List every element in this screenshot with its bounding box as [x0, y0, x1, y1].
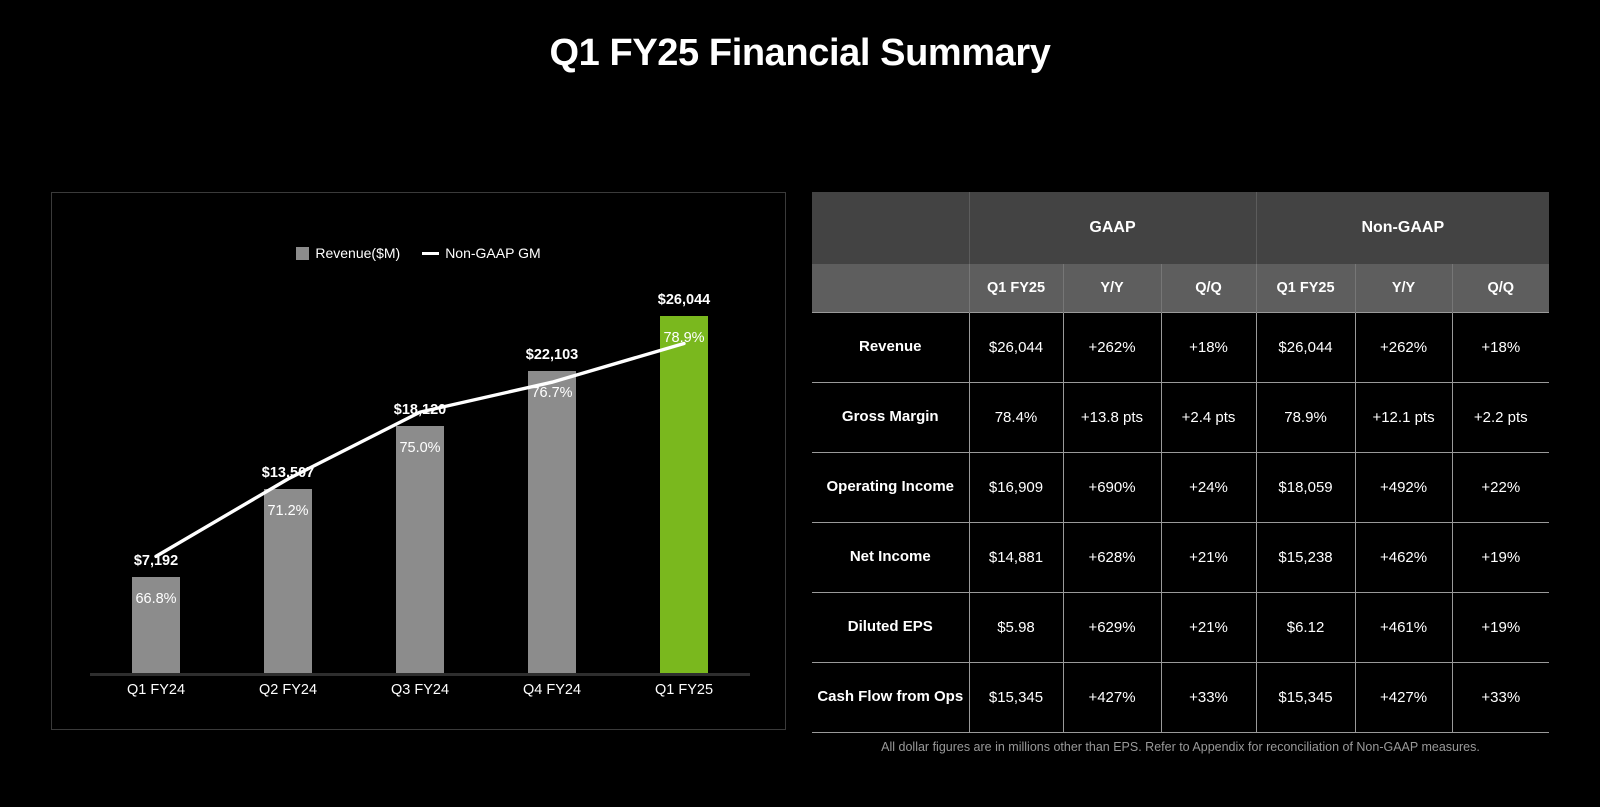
table-cell: $16,909: [969, 452, 1063, 522]
chart-plot-area: $7,19266.8%$13,50771.2%$18,12075.0%$22,1…: [90, 289, 750, 676]
table-corner-cell: [812, 192, 969, 264]
legend-item-revenue: Revenue($M): [296, 245, 400, 261]
table-cell: +19%: [1452, 522, 1549, 592]
table-cell: +18%: [1452, 312, 1549, 382]
table-cell: +12.1 pts: [1355, 382, 1452, 452]
table-subheader-q-q: Q/Q: [1161, 264, 1256, 312]
chart-panel: Revenue($M) Non-GAAP GM $7,19266.8%$13,5…: [51, 192, 786, 730]
legend-square-icon: [296, 247, 309, 260]
table-sub-header-row: Q1 FY25Y/YQ/QQ1 FY25Y/YQ/Q: [812, 264, 1549, 312]
table-row: Gross Margin78.4%+13.8 pts+2.4 pts78.9%+…: [812, 382, 1549, 452]
chart-legend: Revenue($M) Non-GAAP GM: [52, 245, 785, 261]
table-cell: +492%: [1355, 452, 1452, 522]
table-cell: 78.4%: [969, 382, 1063, 452]
table-cell: $26,044: [1256, 312, 1355, 382]
table-cell: +462%: [1355, 522, 1452, 592]
x-axis-labels: Q1 FY24Q2 FY24Q3 FY24Q4 FY24Q1 FY25: [90, 682, 750, 704]
table-cell: +21%: [1161, 592, 1256, 662]
bar-value-label: $13,507: [262, 465, 314, 481]
bar-slot: $18,12075.0%: [354, 289, 486, 676]
bar-slot: $7,19266.8%: [90, 289, 222, 676]
bar-value-label: $22,103: [526, 347, 578, 363]
table-cell: +690%: [1063, 452, 1161, 522]
bar-slot: $22,10376.7%: [486, 289, 618, 676]
bar-value-label: $26,044: [658, 292, 710, 308]
gross-margin-label: 78.9%: [663, 330, 704, 346]
table-cell: +21%: [1161, 522, 1256, 592]
table-group-header-row: GAAP Non-GAAP: [812, 192, 1549, 264]
table-cell: $14,881: [969, 522, 1063, 592]
table-cell: +22%: [1452, 452, 1549, 522]
slide-root: Q1 FY25 Financial Summary Revenue($M) No…: [0, 0, 1600, 807]
table-cell: +24%: [1161, 452, 1256, 522]
table-row-label: Revenue: [812, 312, 969, 382]
gross-margin-label: 76.7%: [531, 385, 572, 401]
table-body: Revenue$26,044+262%+18%$26,044+262%+18%G…: [812, 312, 1549, 732]
table-cell: $26,044: [969, 312, 1063, 382]
table-cell: +262%: [1063, 312, 1161, 382]
table-row: Net Income$14,881+628%+21%$15,238+462%+1…: [812, 522, 1549, 592]
table-subheader-q-q: Q/Q: [1452, 264, 1549, 312]
table-cell: +33%: [1452, 662, 1549, 732]
table-row-label: Operating Income: [812, 452, 969, 522]
table-subheader-y-y: Y/Y: [1063, 264, 1161, 312]
table-row: Revenue$26,044+262%+18%$26,044+262%+18%: [812, 312, 1549, 382]
bar-slot: $13,50771.2%: [222, 289, 354, 676]
table-cell: +13.8 pts: [1063, 382, 1161, 452]
table-cell: 78.9%: [1256, 382, 1355, 452]
table-cell: +427%: [1063, 662, 1161, 732]
revenue-bar[interactable]: [528, 371, 576, 676]
table-cell: $6.12: [1256, 592, 1355, 662]
table-cell: +427%: [1355, 662, 1452, 732]
table-row-label: Cash Flow from Ops: [812, 662, 969, 732]
x-axis-label: Q4 FY24: [486, 682, 618, 698]
table-cell: +262%: [1355, 312, 1452, 382]
page-title: Q1 FY25 Financial Summary: [0, 32, 1600, 75]
x-axis-line: [90, 673, 750, 676]
table-row: Operating Income$16,909+690%+24%$18,059+…: [812, 452, 1549, 522]
gross-margin-label: 66.8%: [135, 591, 176, 607]
revenue-bar[interactable]: [396, 426, 444, 676]
x-axis-label: Q2 FY24: [222, 682, 354, 698]
table-cell: +629%: [1063, 592, 1161, 662]
table-cell: +33%: [1161, 662, 1256, 732]
table-row-label: Gross Margin: [812, 382, 969, 452]
table-group-header-non-gaap: Non-GAAP: [1256, 192, 1549, 264]
table-row: Diluted EPS$5.98+629%+21%$6.12+461%+19%: [812, 592, 1549, 662]
x-axis-label: Q3 FY24: [354, 682, 486, 698]
legend-label-revenue: Revenue($M): [315, 245, 400, 261]
table-cell: +628%: [1063, 522, 1161, 592]
legend-line-icon: [422, 252, 439, 255]
table-subheader-y-y: Y/Y: [1355, 264, 1452, 312]
bar-slot: $26,04478.9%: [618, 289, 750, 676]
table-cell: +461%: [1355, 592, 1452, 662]
legend-item-gross-margin: Non-GAAP GM: [422, 245, 540, 261]
table-subheader-q1-fy25: Q1 FY25: [969, 264, 1063, 312]
table-row-label: Net Income: [812, 522, 969, 592]
table-cell: +2.2 pts: [1452, 382, 1549, 452]
table-cell: $15,238: [1256, 522, 1355, 592]
bar-value-label: $7,192: [134, 553, 178, 569]
gross-margin-label: 75.0%: [399, 440, 440, 456]
x-axis-label: Q1 FY25: [618, 682, 750, 698]
table-row-label: Diluted EPS: [812, 592, 969, 662]
gross-margin-label: 71.2%: [267, 503, 308, 519]
financial-table-wrap: GAAP Non-GAAP Q1 FY25Y/YQ/QQ1 FY25Y/YQ/Q…: [812, 192, 1549, 733]
bar-value-label: $18,120: [394, 402, 446, 418]
financial-table: GAAP Non-GAAP Q1 FY25Y/YQ/QQ1 FY25Y/YQ/Q…: [812, 192, 1549, 733]
bar-group: $7,19266.8%$13,50771.2%$18,12075.0%$22,1…: [90, 289, 750, 676]
table-cell: $18,059: [1256, 452, 1355, 522]
table-group-header-gaap: GAAP: [969, 192, 1256, 264]
table-cell: +19%: [1452, 592, 1549, 662]
table-cell: +18%: [1161, 312, 1256, 382]
table-footnote: All dollar figures are in millions other…: [812, 740, 1549, 754]
table-cell: $15,345: [969, 662, 1063, 732]
table-cell: $15,345: [1256, 662, 1355, 732]
table-row: Cash Flow from Ops$15,345+427%+33%$15,34…: [812, 662, 1549, 732]
x-axis-label: Q1 FY24: [90, 682, 222, 698]
revenue-bar[interactable]: [660, 316, 708, 676]
table-subheader-q1-fy25: Q1 FY25: [1256, 264, 1355, 312]
table-cell: +2.4 pts: [1161, 382, 1256, 452]
legend-label-gross-margin: Non-GAAP GM: [445, 245, 540, 261]
table-cell: $5.98: [969, 592, 1063, 662]
table-subheader-corner: [812, 264, 969, 312]
